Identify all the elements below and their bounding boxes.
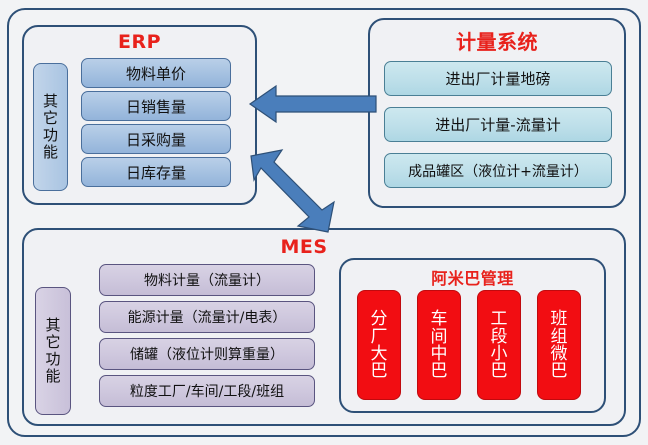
mes-sidebar-char-0: 其 xyxy=(45,317,60,334)
mes-item-label: 物料计量（流量计） xyxy=(144,270,270,290)
amoeba-panel: 阿米巴管理 分 厂 大 巴 车 间 中 巴 工 段 小 巴 班 组 xyxy=(339,258,606,413)
mes-sidebar-char-1: 它 xyxy=(45,334,60,351)
metering-item-product-tank-farm[interactable]: 成品罐区（液位计+流量计） xyxy=(384,153,612,188)
amoeba-item-section[interactable]: 工 段 小 巴 xyxy=(477,290,521,400)
erp-item-material-unit-price[interactable]: 物料单价 xyxy=(81,58,231,88)
erp-item-label: 物料单价 xyxy=(126,63,186,84)
metering-item-label: 成品罐区（液位计+流量计） xyxy=(408,161,588,181)
metering-item-flowmeter[interactable]: 进出厂计量-流量计 xyxy=(384,107,612,142)
erp-panel-title: ERP xyxy=(24,31,255,53)
amoeba-char-3: 巴 xyxy=(491,363,508,380)
erp-panel: ERP 其 它 功 能 物料单价 日销售量 日采购量 日库存量 xyxy=(22,25,257,205)
metering-to-erp-arrow xyxy=(250,84,376,124)
amoeba-item-workshop[interactable]: 车 间 中 巴 xyxy=(417,290,461,400)
erp-sidebar-char-3: 能 xyxy=(43,144,58,161)
mes-item-storage-tank[interactable]: 储罐（液位计则算重量） xyxy=(99,338,315,370)
mes-sidebar-char-3: 能 xyxy=(45,368,60,385)
amoeba-item-team[interactable]: 班 组 微 巴 xyxy=(537,290,581,400)
amoeba-char-3: 巴 xyxy=(371,363,388,380)
mes-sidebar-char-2: 功 xyxy=(45,351,60,368)
erp-item-label: 日库存量 xyxy=(126,162,186,183)
erp-sidebar-char-2: 功 xyxy=(43,127,58,144)
erp-item-daily-sales[interactable]: 日销售量 xyxy=(81,91,231,121)
mes-item-label: 粒度工厂/车间/工段/班组 xyxy=(130,381,284,401)
mes-panel: MES 其 它 功 能 物料计量（流量计） 能源计量（流量计/电表） 储罐（液位… xyxy=(22,228,626,426)
erp-item-daily-purchase[interactable]: 日采购量 xyxy=(81,124,231,154)
amoeba-item-branch-plant[interactable]: 分 厂 大 巴 xyxy=(357,290,401,400)
mes-item-material-metering[interactable]: 物料计量（流量计） xyxy=(99,264,315,296)
mes-item-energy-metering[interactable]: 能源计量（流量计/电表） xyxy=(99,301,315,333)
erp-sidebar-char-1: 它 xyxy=(43,110,58,127)
erp-mes-double-arrow xyxy=(248,140,348,232)
mes-panel-title: MES xyxy=(24,236,584,258)
mes-item-label: 能源计量（流量计/电表） xyxy=(128,307,287,327)
metering-item-label: 进出厂计量地磅 xyxy=(445,68,550,89)
erp-other-functions-sidebar[interactable]: 其 它 功 能 xyxy=(33,63,68,191)
mes-item-granularity[interactable]: 粒度工厂/车间/工段/班组 xyxy=(99,375,315,407)
metering-item-weighbridge[interactable]: 进出厂计量地磅 xyxy=(384,61,612,96)
amoeba-char-3: 巴 xyxy=(431,363,448,380)
metering-system-panel-title: 计量系统 xyxy=(370,26,624,55)
metering-item-label: 进出厂计量-流量计 xyxy=(435,114,560,135)
erp-item-daily-inventory[interactable]: 日库存量 xyxy=(81,157,231,187)
amoeba-char-3: 巴 xyxy=(551,363,568,380)
erp-sidebar-char-0: 其 xyxy=(43,93,58,110)
metering-system-panel: 计量系统 进出厂计量地磅 进出厂计量-流量计 成品罐区（液位计+流量计） xyxy=(368,18,626,208)
amoeba-panel-title: 阿米巴管理 xyxy=(341,265,604,289)
mes-other-functions-sidebar[interactable]: 其 它 功 能 xyxy=(35,287,71,415)
diagram-canvas: ERP 其 它 功 能 物料单价 日销售量 日采购量 日库存量 计量系统 进出厂… xyxy=(0,0,648,445)
erp-item-label: 日采购量 xyxy=(126,129,186,150)
mes-item-label: 储罐（液位计则算重量） xyxy=(130,344,284,364)
erp-item-label: 日销售量 xyxy=(126,96,186,117)
